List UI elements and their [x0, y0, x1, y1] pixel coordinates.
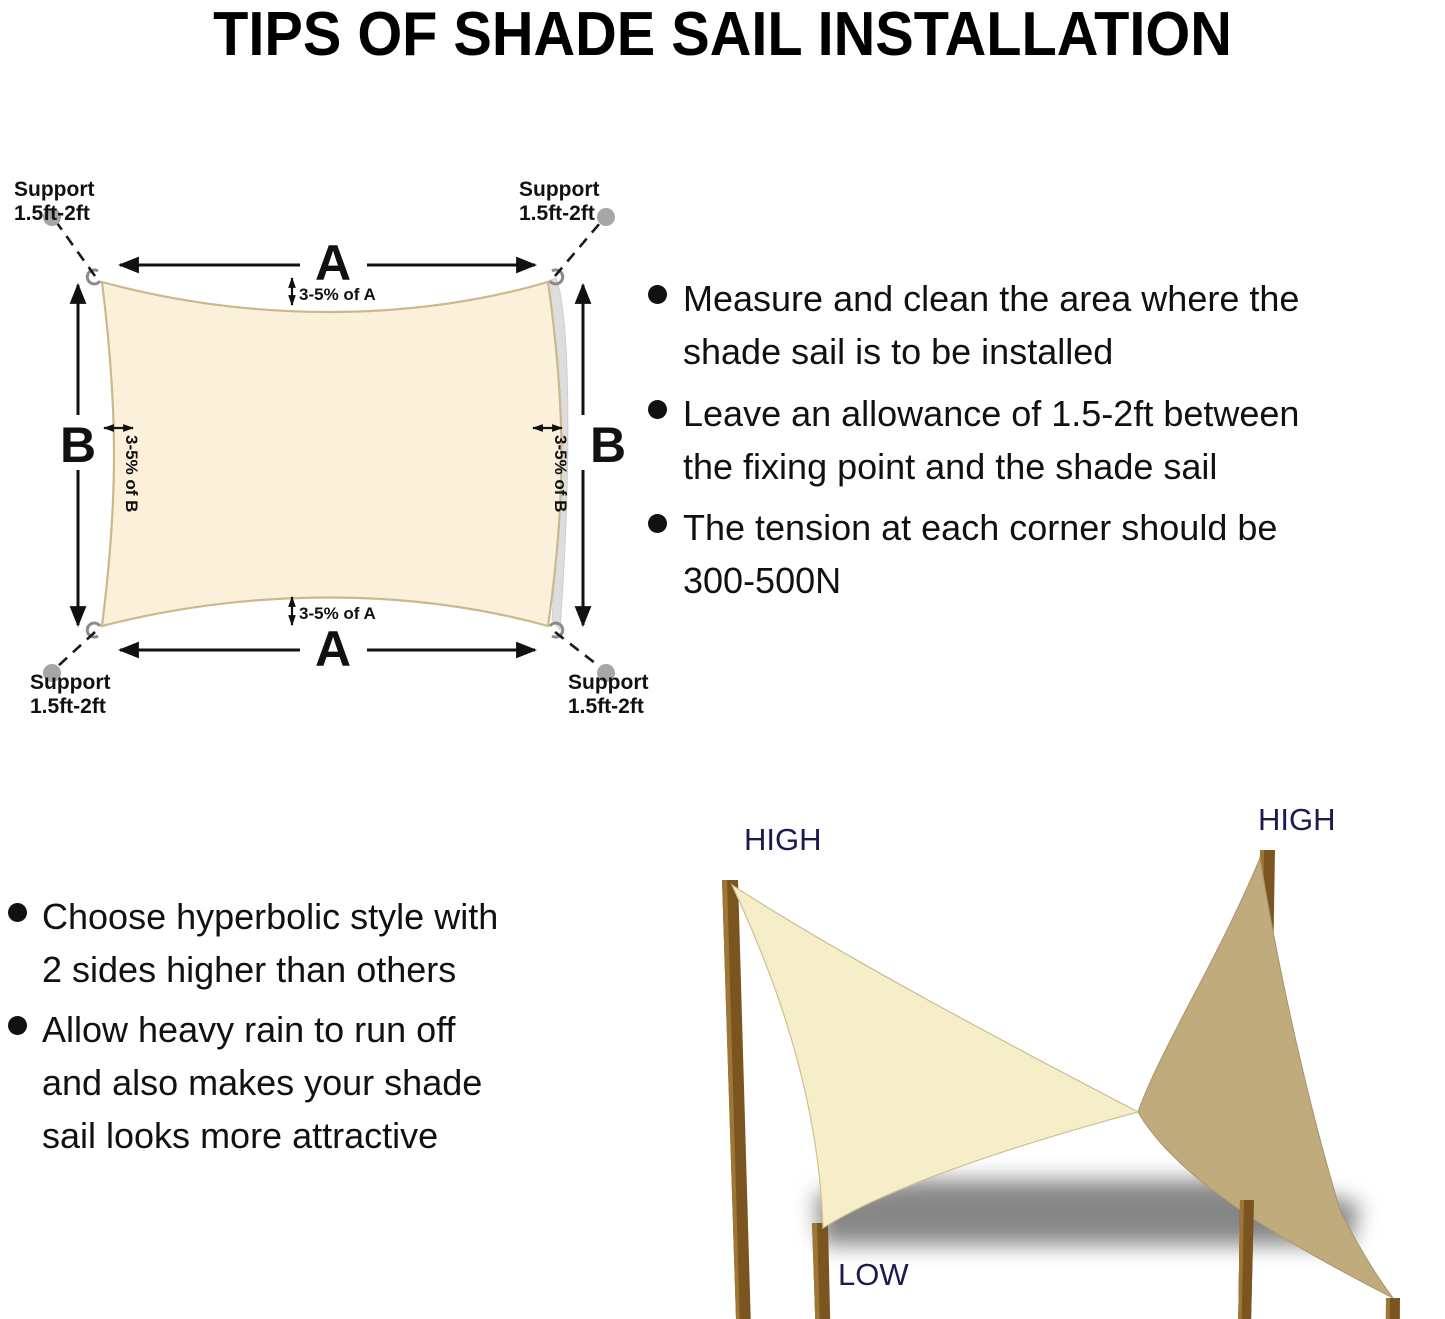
dimension-a-top: A 3-5% of A — [120, 235, 535, 305]
post-highlight — [1384, 1298, 1390, 1319]
installation-tips-list: Measure and clean the area where the sha… — [648, 272, 1445, 616]
support-bottom-left-line2: 1.5ft-2ft — [30, 695, 106, 718]
bullet-dot-icon — [648, 514, 667, 533]
post-high-left — [722, 880, 758, 1319]
bullet-dot-icon — [8, 903, 27, 922]
sail-fabric — [102, 282, 562, 626]
page-title: TIPS OF SHADE SAIL INSTALLATION — [51, 2, 1395, 67]
tether-bottom-right — [555, 632, 600, 667]
sail-shape — [102, 278, 568, 630]
curve-note-left: 3-5% of B — [122, 435, 141, 512]
tip-text: Measure and clean the area where the sha… — [683, 272, 1299, 379]
hyperbolic-shade-sail-illustration: HIGH HIGH LOW LOW — [660, 780, 1445, 1319]
label-high-right: HIGH — [1258, 802, 1336, 837]
benefit-text: Choose hyperbolic style with 2 sides hig… — [42, 890, 498, 997]
dimension-label-a-top: A — [315, 235, 351, 291]
curve-note-bottom: 3-5% of A — [299, 604, 376, 623]
support-bottom-right-line1: Support — [568, 671, 648, 694]
bullet-dot-icon — [648, 285, 667, 304]
support-dot-top-right — [597, 208, 615, 226]
tip-text: Leave an allowance of 1.5-2ft between th… — [683, 387, 1299, 494]
tether-top-left — [57, 223, 95, 276]
tether-top-right — [555, 223, 600, 276]
rectangular-shade-sail-dimension-diagram: A 3-5% of A A 3-5% of A B 3-5% of B B — [0, 160, 660, 730]
support-top-left-line1: Support — [14, 178, 94, 201]
list-item: The tension at each corner should be 300… — [648, 501, 1445, 608]
tip-text: The tension at each corner should be 300… — [683, 501, 1277, 608]
dimension-label-b-right: B — [590, 417, 626, 473]
curve-note-right: 3-5% of B — [551, 435, 570, 512]
bullet-dot-icon — [648, 400, 667, 419]
list-item: Leave an allowance of 1.5-2ft between th… — [648, 387, 1445, 494]
benefit-text: Allow heavy rain to run off and also mak… — [42, 1003, 482, 1163]
dimension-label-a-bottom: A — [315, 621, 351, 677]
support-top-right-line1: Support — [519, 178, 599, 201]
support-bottom-left-line1: Support — [30, 671, 110, 694]
tether-bottom-left — [57, 632, 95, 667]
support-top-right-line2: 1.5ft-2ft — [519, 202, 595, 225]
list-item: Allow heavy rain to run off and also mak… — [8, 1003, 628, 1163]
label-low-left: LOW — [838, 1257, 909, 1292]
hyperbolic-style-benefits-list: Choose hyperbolic style with 2 sides hig… — [8, 890, 628, 1168]
support-bottom-right-line2: 1.5ft-2ft — [568, 695, 644, 718]
bullet-dot-icon — [8, 1016, 27, 1035]
label-high-left: HIGH — [744, 822, 822, 857]
post-low-right — [1384, 1298, 1400, 1319]
list-item: Choose hyperbolic style with 2 sides hig… — [8, 890, 628, 997]
list-item: Measure and clean the area where the sha… — [648, 272, 1445, 379]
curve-note-top: 3-5% of A — [299, 285, 376, 304]
support-top-left-line2: 1.5ft-2ft — [14, 202, 90, 225]
infographic-page: TIPS OF SHADE SAIL INSTALLATION — [0, 0, 1445, 1319]
dimension-label-b-left: B — [60, 417, 96, 473]
sail-panel-cream — [732, 885, 1138, 1228]
